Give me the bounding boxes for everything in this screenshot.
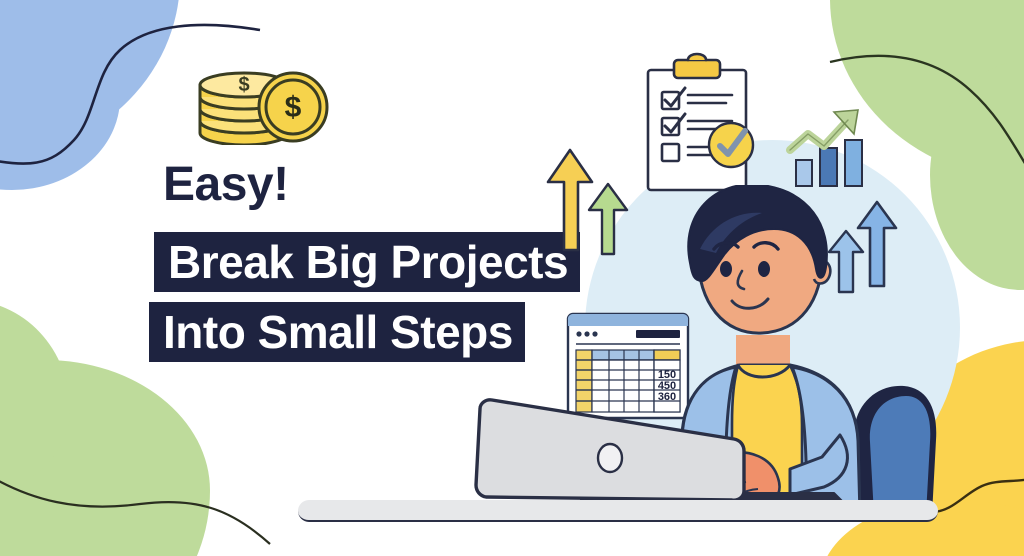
laptop <box>462 395 852 517</box>
laptop-logo-dot-icon <box>598 444 622 472</box>
person-eye-right <box>758 261 770 277</box>
person-eye-left <box>720 261 732 277</box>
checkbox-3 <box>662 144 679 161</box>
coin-symbol-small: $ <box>238 74 249 96</box>
arrow-up-green-icon <box>584 178 632 256</box>
headline-line-2: Into Small Steps <box>149 302 525 362</box>
gold-coin-stack-icon: $ $ <box>192 55 332 145</box>
check-badge-icon <box>704 118 758 172</box>
bar-chart-growth-icon <box>786 104 882 188</box>
headline-line-1: Break Big Projects <box>154 232 580 292</box>
decorative-line-bottom-left <box>0 440 280 556</box>
growth-arrow-line <box>790 120 848 150</box>
banner-illustration: Easy! Break Big Projects Into Small Step… <box>0 0 1024 556</box>
coin-symbol-large: $ <box>285 91 302 124</box>
headline-eyebrow: Easy! <box>163 161 289 209</box>
spreadsheet-window-dots <box>576 331 597 336</box>
desk-surface <box>298 500 938 522</box>
